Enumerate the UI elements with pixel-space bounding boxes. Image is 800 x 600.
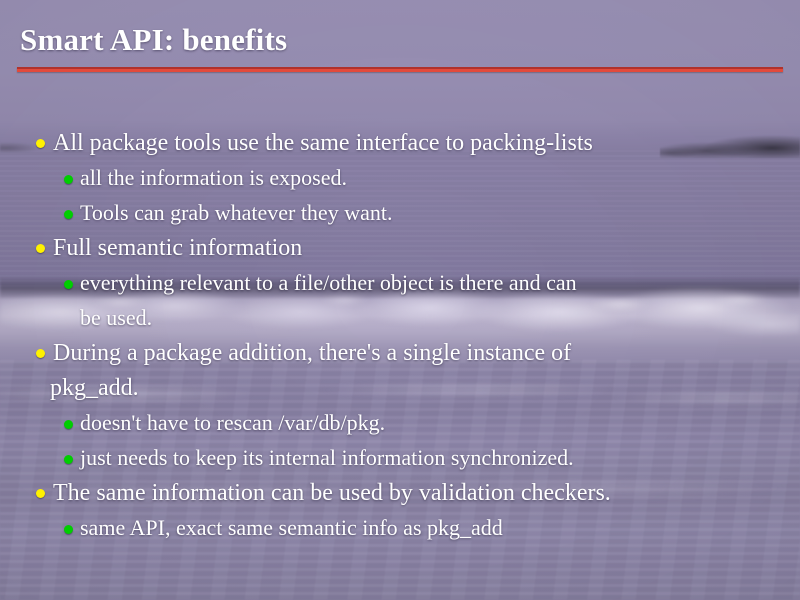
bullet-text: all the information is exposed.	[80, 161, 347, 195]
bullet-dot-level2-icon	[64, 175, 73, 184]
bullet-text: During a package addition, there's a sin…	[53, 336, 571, 370]
bullet-text: All package tools use the same interface…	[53, 126, 593, 160]
bullet-dot-level2-icon	[64, 420, 73, 429]
bullet-item: The same information can be used by vali…	[0, 476, 800, 511]
bullet-continuation-line: be used.	[0, 301, 800, 336]
bullet-continuation-line: pkg_add.	[0, 371, 800, 406]
bullet-dot-level2-icon	[64, 280, 73, 289]
bullet-dot-level2-icon	[64, 455, 73, 464]
bullet-item: everything relevant to a file/other obje…	[0, 266, 800, 301]
bullet-item: All package tools use the same interface…	[0, 126, 800, 161]
bullet-item: Tools can grab whatever they want.	[0, 196, 800, 231]
bullet-dot-level1-icon	[36, 489, 45, 498]
bullet-item: During a package addition, there's a sin…	[0, 336, 800, 371]
title-underline-rule	[17, 67, 783, 72]
bullet-text: everything relevant to a file/other obje…	[80, 266, 577, 300]
bullet-item: just needs to keep its internal informat…	[0, 441, 800, 476]
bullet-text: same API, exact same semantic info as pk…	[80, 511, 503, 545]
bullet-item: same API, exact same semantic info as pk…	[0, 511, 800, 546]
bullet-text: Tools can grab whatever they want.	[80, 196, 392, 230]
bullet-text: Full semantic information	[53, 231, 302, 265]
bullet-text: The same information can be used by vali…	[53, 476, 611, 510]
bullet-text: pkg_add.	[50, 371, 139, 405]
bullet-dot-level1-icon	[36, 139, 45, 148]
bullet-text: just needs to keep its internal informat…	[80, 441, 574, 475]
slide-body: All package tools use the same interface…	[0, 126, 800, 546]
bullet-item: Full semantic information	[0, 231, 800, 266]
slide-title: Smart API: benefits	[20, 22, 287, 58]
bullet-text: be used.	[80, 301, 152, 335]
bullet-text: doesn't have to rescan /var/db/pkg.	[80, 406, 385, 440]
bullet-item: doesn't have to rescan /var/db/pkg.	[0, 406, 800, 441]
bullet-dot-level1-icon	[36, 244, 45, 253]
bullet-item: all the information is exposed.	[0, 161, 800, 196]
presentation-slide: Smart API: benefits All package tools us…	[0, 0, 800, 600]
bullet-dot-level2-icon	[64, 210, 73, 219]
bullet-dot-level2-icon	[64, 525, 73, 534]
bullet-dot-level1-icon	[36, 349, 45, 358]
